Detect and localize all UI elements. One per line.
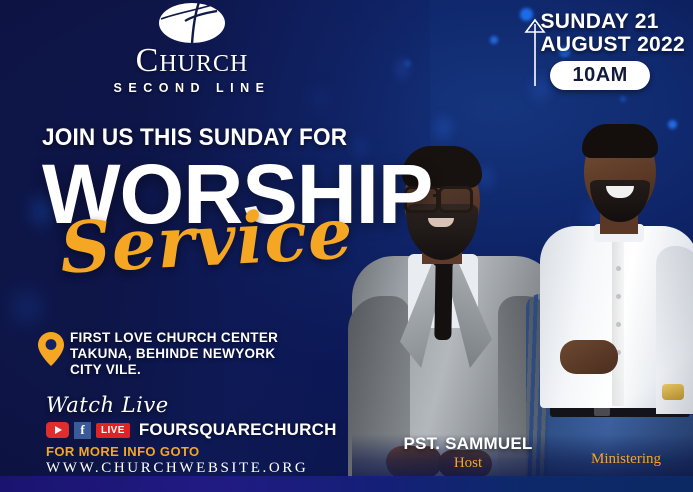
church-steeple-icon (522, 16, 548, 88)
map-pin-icon (38, 332, 64, 366)
speaker-caption-minister: Ministering (566, 450, 686, 468)
headline-script: Service (58, 198, 355, 283)
speaker-role: Ministering (566, 451, 686, 468)
service-time-badge: 10AM (550, 61, 649, 90)
date-line-2: AUGUST 2022 (540, 33, 685, 56)
venue-address: FIRST LOVE CHURCH CENTER TAKUNA, BEHINDE… (38, 330, 338, 378)
brand-logo: Church SECOND LINE (74, 2, 310, 86)
brand-name: Church (74, 44, 310, 78)
live-badge: LIVE (96, 423, 130, 438)
social-handle[interactable]: FOURSQUARECHURCH (139, 420, 337, 440)
address-line-3: CITY VILE. (70, 362, 338, 378)
watch-live-block: Watch Live f LIVE FOURSQUARECHURCH (46, 394, 337, 440)
website-label: FOR MORE INFO GOTO (46, 444, 308, 459)
brand-tagline: SECOND LINE (74, 81, 310, 95)
website-url[interactable]: WWW.CHURCHWEBSITE.ORG (46, 460, 308, 477)
speaker-name: PST. SAMMUEL (388, 434, 548, 454)
youtube-icon[interactable] (46, 422, 69, 438)
date-time-block: SUNDAY 21 AUGUST 2022 10AM (514, 10, 685, 90)
watch-live-title: Watch Live (46, 394, 337, 416)
address-line-1: FIRST LOVE CHURCH CENTER (70, 330, 338, 346)
headline-block: JOIN US THIS SUNDAY FOR WORSHIP Service (42, 124, 382, 234)
social-links: f LIVE FOURSQUARECHURCH (46, 420, 337, 440)
church-oval-cross-logo-icon (155, 2, 229, 44)
website-block: FOR MORE INFO GOTO WWW.CHURCHWEBSITE.ORG (46, 444, 308, 477)
facebook-icon[interactable]: f (74, 422, 91, 439)
speaker-caption-host: PST. SAMMUEL Host (388, 434, 548, 472)
bottom-color-band (0, 476, 693, 492)
date-line-1: SUNDAY 21 (540, 10, 685, 33)
worship-service-flyer: Church SECOND LINE SUNDAY 21 AUGUST 2022… (0, 0, 693, 492)
address-line-2: TAKUNA, BEHINDE NEWYORK (70, 346, 338, 362)
speaker-role: Host (388, 455, 548, 472)
